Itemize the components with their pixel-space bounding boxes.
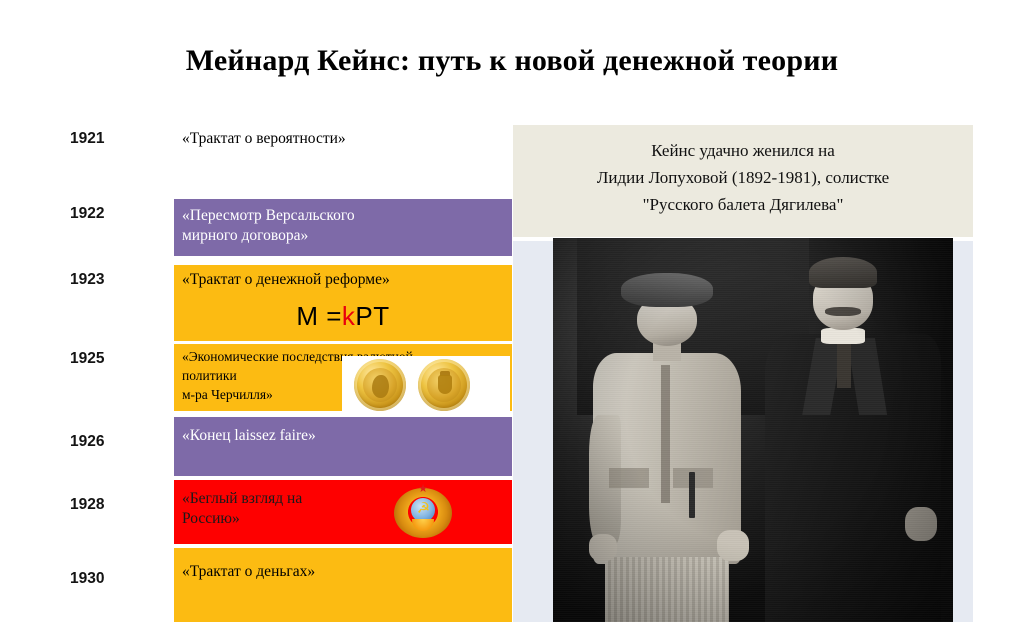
timeline-bar-1926: «Конец laissez faire» xyxy=(174,417,512,476)
keynes-lopokova-photo xyxy=(553,238,953,622)
timeline-year-1926: 1926 xyxy=(70,433,166,451)
timeline-bar-1922: «Пересмотр Версальского мирного договора… xyxy=(174,199,512,256)
timeline-entry-1928-label: «Беглый взгляд на Россию» xyxy=(182,489,302,529)
timeline-year-1921: 1921 xyxy=(70,130,166,148)
timeline-bar-1925: «Экономические последствия валютной поли… xyxy=(174,344,512,411)
timeline-entry-1923-label: «Трактат о денежной реформе» xyxy=(182,270,390,290)
timeline-year-1923: 1923 xyxy=(70,271,166,289)
equation-k-term: k xyxy=(342,301,356,331)
timeline-entry-1921-label: «Трактат о вероятности» xyxy=(182,130,346,148)
timeline-entry-1922-label: «Пересмотр Версальского мирного договора… xyxy=(182,206,355,246)
timeline-year-1930: 1930 xyxy=(70,570,166,588)
timeline-year-1928: 1928 xyxy=(70,496,166,514)
timeline-year-1925: 1925 xyxy=(70,350,166,368)
gold-coins-image xyxy=(342,356,510,414)
equation-right: PT xyxy=(355,301,389,331)
caption-box: Кейнс удачно женился на Лидии Лопуховой … xyxy=(513,125,973,237)
timeline-entry-1926-label: «Конец laissez faire» xyxy=(182,426,316,446)
equation-left: M = xyxy=(296,301,342,331)
gold-coin-obverse-icon xyxy=(354,359,406,411)
timeline-bar-1923: «Трактат о денежной реформе» M =kPT xyxy=(174,265,512,341)
gold-coin-reverse-icon xyxy=(418,359,470,411)
timeline-bar-1930: «Трактат о деньгах» xyxy=(174,548,512,622)
timeline-year-1922: 1922 xyxy=(70,205,166,223)
timeline-entry-1930-label: «Трактат о деньгах» xyxy=(182,562,315,582)
timeline-bar-1928: «Беглый взгляд на Россию» ☭ ★ xyxy=(174,480,512,544)
caption-text: Кейнс удачно женился на Лидии Лопуховой … xyxy=(513,137,973,218)
soviet-coat-of-arms-icon: ☭ ★ xyxy=(392,484,454,540)
timeline-list: 1921 «Трактат о вероятности» 1922 «Перес… xyxy=(0,0,512,639)
quantity-equation: M =kPT xyxy=(174,301,512,332)
